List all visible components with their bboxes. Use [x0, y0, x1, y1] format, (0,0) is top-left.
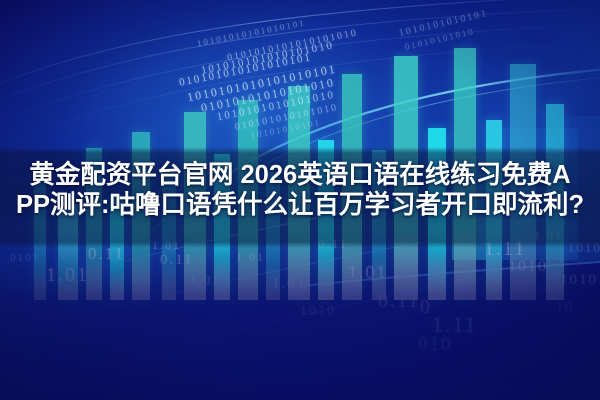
headline-line-1: 黄金配资平台官网 2026英语口语在线练习免费A	[0, 160, 600, 190]
page-title: 黄金配资平台官网 2026英语口语在线练习免费A PP测评:咕噜口语凭什么让百万…	[0, 160, 600, 220]
banner-image: 1010101010101010101010101010101010101010…	[0, 0, 600, 400]
headline-line-2: PP测评:咕噜口语凭什么让百万学习者开口即流利?	[0, 190, 600, 220]
